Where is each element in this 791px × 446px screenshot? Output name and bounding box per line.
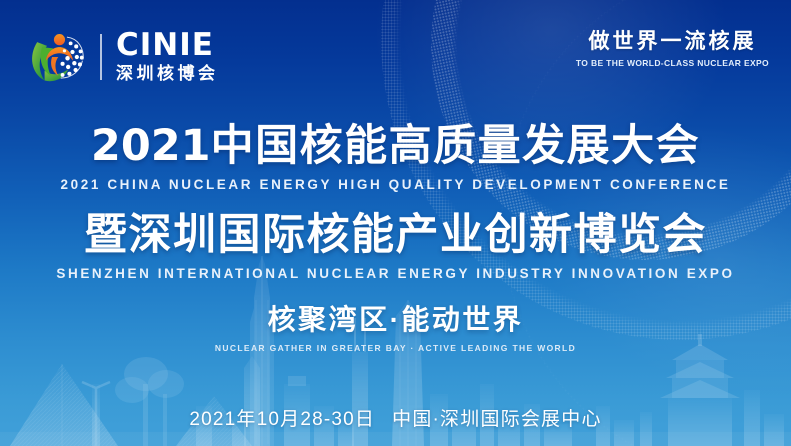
title-year: 2021 [91,121,211,171]
corner-slogan: 做世界一流核展 TO BE THE WORLD-CLASS NUCLEAR EX… [576,30,769,68]
tagline-block: 核聚湾区·能动世界 NUCLEAR GATHER IN GREATER BAY … [0,305,791,353]
title-line2-wrap: 暨深圳国际核能产业创新博览会 SHENZHEN INTERNATIONAL NU… [0,211,791,281]
slogan-cn: 做世界一流核展 [576,30,769,53]
title-line1-cn-text: 中国核能高质量发展大会 [211,122,701,170]
slogan-en: TO BE THE WORLD-CLASS NUCLEAR EXPO [576,58,769,68]
tagline-en: NUCLEAR GATHER IN GREATER BAY · ACTIVE L… [0,343,791,353]
title-block: 2021中国核能高质量发展大会 2021 CHINA NUCLEAR ENERG… [0,122,791,281]
conference-banner: CINIE 深圳核博会 做世界一流核展 TO BE THE WORLD-CLAS… [0,0,791,446]
event-venue: 中国·深圳国际会展中心 [392,409,602,430]
logo-divider [100,34,102,80]
logo-wordmark: CINIE 深圳核博会 [116,30,219,84]
title-line1-cn: 2021中国核能高质量发展大会 [0,122,791,170]
title-line2-en: SHENZHEN INTERNATIONAL NUCLEAR ENERGY IN… [0,266,791,281]
cinie-logo[interactable]: CINIE 深圳核博会 [26,26,219,88]
title-line2-cn: 暨深圳国际核能产业创新博览会 [0,211,791,259]
event-date: 2021年10月28-30日 [189,409,375,430]
cinie-emblem-icon [26,26,88,88]
logo-wordmark-cn: 深圳核博会 [116,63,219,84]
tagline-cn: 核聚湾区·能动世界 [0,305,791,336]
title-line1-en: 2021 CHINA NUCLEAR ENERGY HIGH QUALITY D… [0,177,791,192]
logo-wordmark-latin: CINIE [116,30,219,62]
event-details: 2021年10月28-30日中国·深圳国际会展中心 [0,404,791,431]
